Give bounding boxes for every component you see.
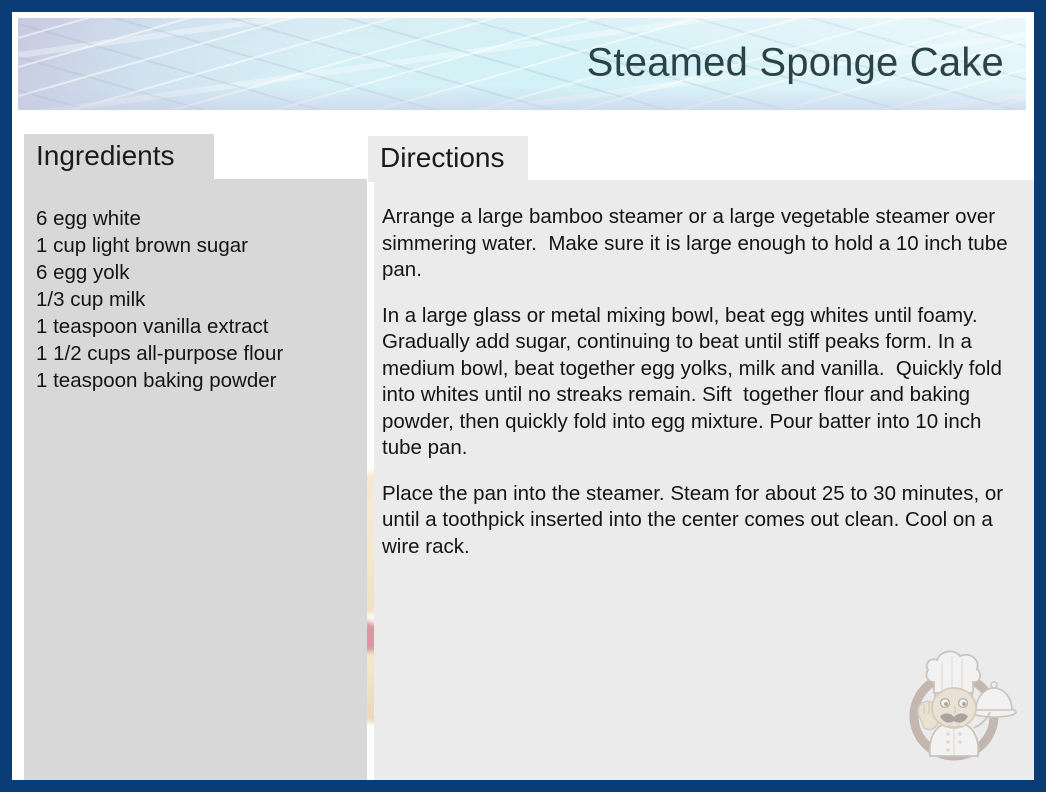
list-item: 1/3 cup milk xyxy=(36,286,353,313)
title-banner: Steamed Sponge Cake xyxy=(18,18,1026,110)
list-item: 6 egg yolk xyxy=(36,259,353,286)
directions-panel: Arrange a large bamboo steamer or a larg… xyxy=(374,180,1034,780)
tab-directions[interactable]: Directions xyxy=(368,136,528,182)
list-item: 1 teaspoon baking powder xyxy=(36,367,353,394)
recipe-title: Steamed Sponge Cake xyxy=(587,41,1004,86)
direction-paragraph: Place the pan into the steamer. Steam fo… xyxy=(382,481,1016,561)
list-item: 1 cup light brown sugar xyxy=(36,232,353,259)
ingredient-list: 6 egg white 1 cup light brown sugar 6 eg… xyxy=(36,205,353,394)
directions-text: Arrange a large bamboo steamer or a larg… xyxy=(382,204,1016,560)
list-item: 6 egg white xyxy=(36,205,353,232)
recipe-card: Steamed Sponge Cake xyxy=(0,0,1046,792)
direction-paragraph: In a large glass or metal mixing bowl, b… xyxy=(382,303,1016,462)
direction-paragraph: Arrange a large bamboo steamer or a larg… xyxy=(382,204,1016,284)
ingredients-panel: 6 egg white 1 cup light brown sugar 6 eg… xyxy=(24,179,367,780)
list-item: 1 1/2 cups all-purpose flour xyxy=(36,340,353,367)
tab-ingredients[interactable]: Ingredients xyxy=(24,134,214,180)
list-item: 1 teaspoon vanilla extract xyxy=(36,313,353,340)
